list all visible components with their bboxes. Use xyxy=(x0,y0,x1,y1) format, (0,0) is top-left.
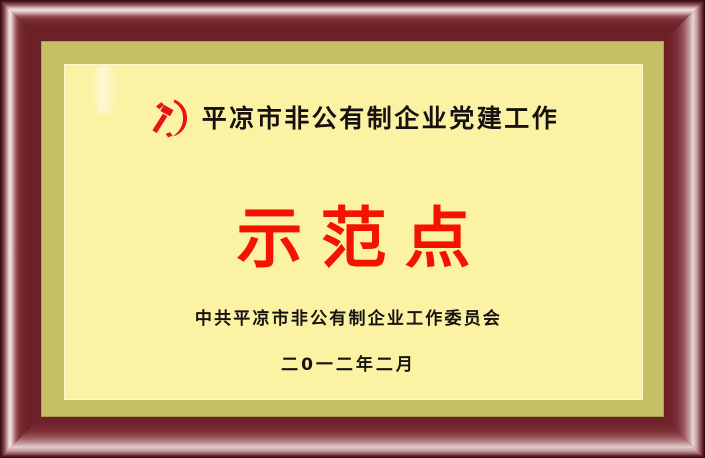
frame-bevel-left xyxy=(0,0,42,458)
plaque-panel: 平凉市非公有制企业党建工作 示范点 中共平凉市非公有制企业工作委员会 二0一二年… xyxy=(64,64,643,400)
award-plaque: 平凉市非公有制企业党建工作 示范点 中共平凉市非公有制企业工作委员会 二0一二年… xyxy=(0,0,705,458)
plaque-issuer: 中共平凉市非公有制企业工作委员会 xyxy=(64,311,643,328)
frame-bevel-right xyxy=(663,0,705,458)
plaque-header: 平凉市非公有制企业党建工作 xyxy=(64,96,643,140)
plaque-mat: 平凉市非公有制企业党建工作 示范点 中共平凉市非公有制企业工作委员会 二0一二年… xyxy=(41,41,664,417)
hammer-sickle-icon xyxy=(148,96,192,140)
plaque-header-title: 平凉市非公有制企业党建工作 xyxy=(202,106,560,131)
plaque-date: 二0一二年二月 xyxy=(64,357,643,374)
frame-bevel-bottom xyxy=(0,416,705,458)
plaque-main-title: 示范点 xyxy=(64,206,643,272)
frame-bevel-top xyxy=(0,0,705,42)
